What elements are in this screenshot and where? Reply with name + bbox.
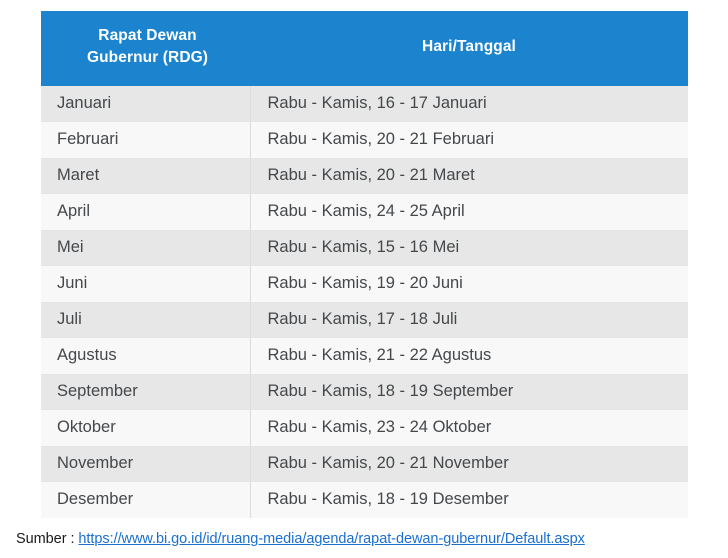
cell-date: Rabu - Kamis, 19 - 20 Juni	[250, 266, 688, 302]
source-label: Sumber :	[16, 531, 78, 547]
cell-month: September	[41, 374, 250, 410]
cell-date: Rabu - Kamis, 20 - 21 Februari	[250, 122, 688, 158]
table-row: OktoberRabu - Kamis, 23 - 24 Oktober	[41, 410, 688, 446]
table-header: Rapat Dewan Gubernur (RDG) Hari/Tanggal	[41, 11, 688, 86]
cell-date: Rabu - Kamis, 21 - 22 Agustus	[250, 338, 688, 374]
table-row: DesemberRabu - Kamis, 18 - 19 Desember	[41, 482, 688, 518]
cell-date: Rabu - Kamis, 17 - 18 Juli	[250, 302, 688, 338]
table-body: JanuariRabu - Kamis, 16 - 17 JanuariFebr…	[41, 86, 688, 518]
cell-date: Rabu - Kamis, 16 - 17 Januari	[250, 86, 688, 122]
cell-month: Desember	[41, 482, 250, 518]
cell-month: November	[41, 446, 250, 482]
cell-month: Mei	[41, 230, 250, 266]
table-row: AprilRabu - Kamis, 24 - 25 April	[41, 194, 688, 230]
cell-date: Rabu - Kamis, 20 - 21 Maret	[250, 158, 688, 194]
table-row: FebruariRabu - Kamis, 20 - 21 Februari	[41, 122, 688, 158]
table-row: SeptemberRabu - Kamis, 18 - 19 September	[41, 374, 688, 410]
column-header-month-line1: Rapat Dewan	[98, 27, 196, 44]
column-header-date: Hari/Tanggal	[250, 11, 688, 86]
column-header-month: Rapat Dewan Gubernur (RDG)	[41, 11, 250, 86]
cell-month: Januari	[41, 86, 250, 122]
table-row: MaretRabu - Kamis, 20 - 21 Maret	[41, 158, 688, 194]
rdg-schedule-table: Rapat Dewan Gubernur (RDG) Hari/Tanggal …	[41, 11, 688, 518]
cell-date: Rabu - Kamis, 18 - 19 September	[250, 374, 688, 410]
table-row: JuliRabu - Kamis, 17 - 18 Juli	[41, 302, 688, 338]
table-row: JuniRabu - Kamis, 19 - 20 Juni	[41, 266, 688, 302]
cell-date: Rabu - Kamis, 24 - 25 April	[250, 194, 688, 230]
cell-month: Juli	[41, 302, 250, 338]
table-header-row: Rapat Dewan Gubernur (RDG) Hari/Tanggal	[41, 11, 688, 86]
source-link[interactable]: https://www.bi.go.id/id/ruang-media/agen…	[78, 531, 584, 547]
cell-date: Rabu - Kamis, 15 - 16 Mei	[250, 230, 688, 266]
cell-date: Rabu - Kamis, 18 - 19 Desember	[250, 482, 688, 518]
table-row: MeiRabu - Kamis, 15 - 16 Mei	[41, 230, 688, 266]
column-header-month-line2: Gubernur (RDG)	[87, 49, 208, 66]
cell-month: Maret	[41, 158, 250, 194]
table-row: NovemberRabu - Kamis, 20 - 21 November	[41, 446, 688, 482]
table-row: AgustusRabu - Kamis, 21 - 22 Agustus	[41, 338, 688, 374]
source-line: Sumber : https://www.bi.go.id/id/ruang-m…	[16, 531, 585, 547]
cell-date: Rabu - Kamis, 23 - 24 Oktober	[250, 410, 688, 446]
cell-month: Agustus	[41, 338, 250, 374]
cell-month: April	[41, 194, 250, 230]
table-row: JanuariRabu - Kamis, 16 - 17 Januari	[41, 86, 688, 122]
cell-month: Februari	[41, 122, 250, 158]
cell-month: Oktober	[41, 410, 250, 446]
cell-month: Juni	[41, 266, 250, 302]
schedule-table-container: Rapat Dewan Gubernur (RDG) Hari/Tanggal …	[41, 11, 688, 518]
cell-date: Rabu - Kamis, 20 - 21 November	[250, 446, 688, 482]
